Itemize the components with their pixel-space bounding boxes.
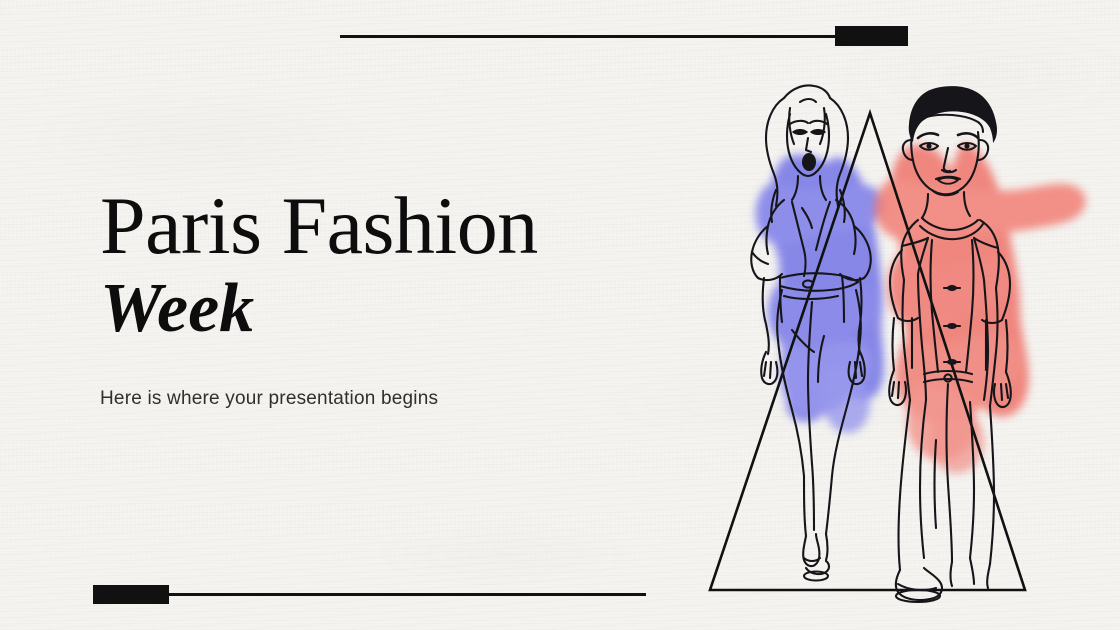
slide-title-line-one: Paris Fashion	[100, 186, 700, 266]
bottom-horizontal-rule	[168, 593, 646, 596]
presentation-slide: Paris Fashion Week Here is where your pr…	[0, 0, 1120, 630]
fashion-illustration	[680, 40, 1120, 615]
blue-watercolor-wash	[755, 155, 884, 433]
fashion-illustration-svg	[680, 40, 1120, 615]
bottom-black-bar	[93, 585, 169, 604]
slide-title-line-two: Week	[100, 272, 700, 346]
top-horizontal-rule	[340, 35, 836, 38]
title-text-block: Paris Fashion Week Here is where your pr…	[100, 186, 700, 410]
slide-subtitle: Here is where your presentation begins	[100, 388, 700, 410]
